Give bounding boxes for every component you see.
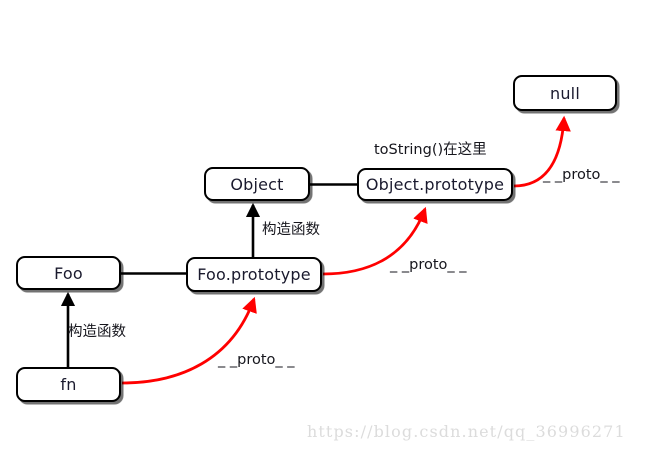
node-fn[interactable]: fn <box>16 367 121 402</box>
watermark-url: https://blog.csdn.net/qq_36996271 <box>307 422 626 441</box>
node-object-prototype[interactable]: Object.prototype <box>357 168 513 201</box>
node-null-label: null <box>550 84 580 103</box>
diagram-canvas: null Object Object.prototype Foo Foo.pro… <box>0 0 645 455</box>
label-tostring-note: toString()在这里 <box>374 138 487 159</box>
node-foo-prototype-label: Foo.prototype <box>197 265 311 284</box>
label-proto-foo-prototype: _ _proto_ _ <box>218 352 295 368</box>
label-constructor-foo: 构造函数 <box>68 320 126 341</box>
node-fn-label: fn <box>60 375 76 394</box>
label-proto-object-prototype: _ _proto_ _ <box>390 257 467 273</box>
node-object-prototype-label: Object.prototype <box>366 175 504 194</box>
node-object[interactable]: Object <box>204 167 310 201</box>
label-constructor-object: 构造函数 <box>262 218 320 239</box>
node-foo-prototype[interactable]: Foo.prototype <box>186 257 322 292</box>
label-proto-null: _ _proto_ _ <box>543 167 620 183</box>
edge-fn-to-foo-prototype-proto <box>122 299 254 383</box>
node-null[interactable]: null <box>513 75 617 111</box>
node-object-label: Object <box>230 175 283 194</box>
node-foo[interactable]: Foo <box>16 256 121 290</box>
node-foo-label: Foo <box>54 264 83 283</box>
